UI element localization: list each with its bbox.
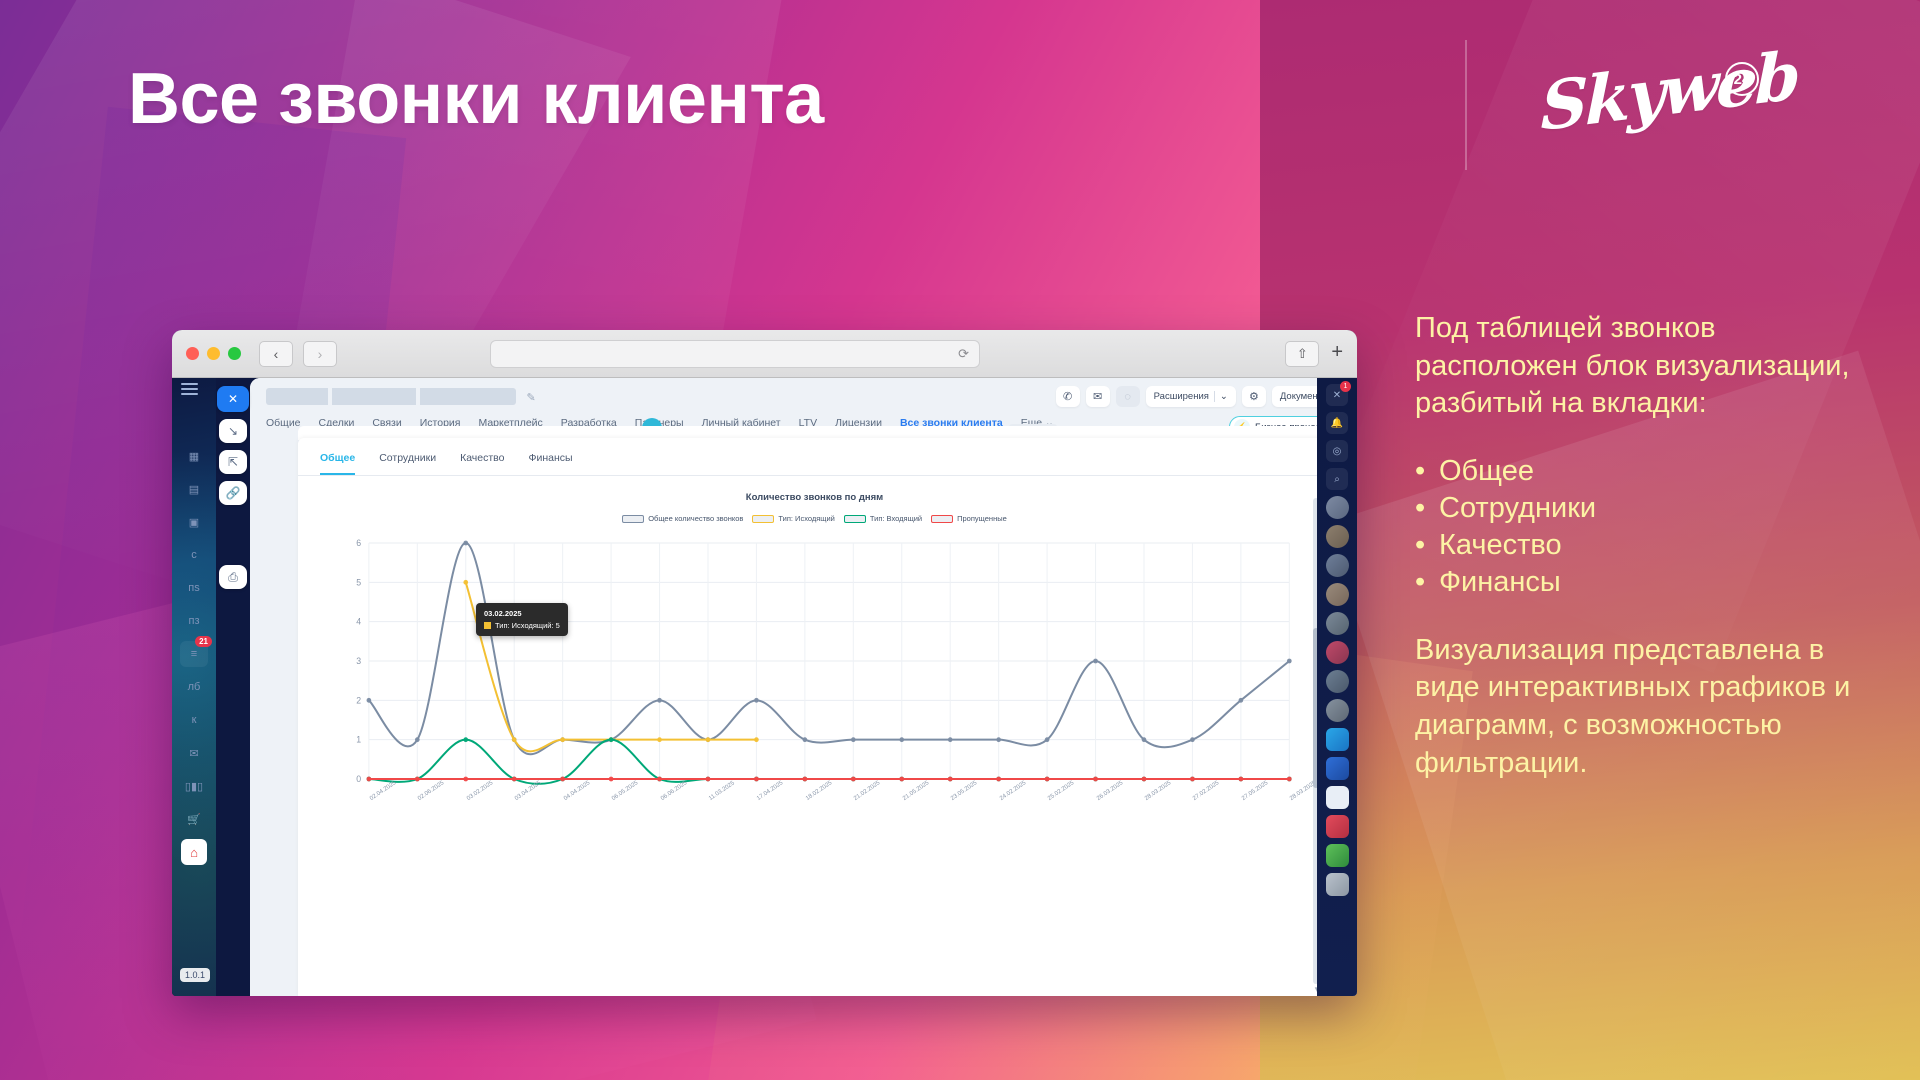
dock-item-icon[interactable]: ▤ [180,476,208,502]
legend-label: Тип: Исходящий [778,514,834,523]
avatar[interactable] [1326,525,1349,548]
page-title: Все звонки клиента [128,58,824,140]
chat-icon[interactable]: ◌ [1116,386,1140,407]
chevron-down-icon: ⌄ [1220,391,1228,402]
extensions-dropdown[interactable]: Расширения ⌄ [1146,386,1236,407]
tooltip-date: 03.02.2025 [484,608,560,620]
bullet-item: Качество [1415,527,1885,564]
app-viewport: ▦ ▤ ▣ с пs пз ≡21 лб к ✉ ▯▮▯ 🛒 ⌂ 1.0.1 ✕… [172,378,1357,996]
brand-logo: Skyweb 24 [1540,42,1800,162]
rail-app-icon[interactable] [1326,873,1349,896]
rail-app-icon[interactable] [1326,757,1349,780]
calls-per-day-line-chart[interactable]: 0123456 [328,535,1301,797]
rail-app-icon[interactable] [1326,728,1349,751]
legend-item-total[interactable]: Общее количество звонков [622,514,743,523]
description-paragraph-1: Под таблицей звонков расположен блок виз… [1415,310,1885,423]
tabs-bullet-list: Общее Сотрудники Качество Финансы [1415,453,1885,601]
logo-badge-24: 24 [1725,62,1759,96]
dock-item-icon[interactable]: пз [180,608,208,634]
notification-badge: 21 [195,636,212,647]
record-title-redacted [266,388,516,405]
description-paragraph-2: Визуализация представлена в виде интерак… [1415,632,1885,783]
logo-wordmark: Skyweb [1540,36,1798,146]
legend-item-incoming[interactable]: Тип: Входящий [844,514,922,523]
avatar[interactable] [1326,496,1349,519]
bell-icon[interactable]: 🔔 [1326,412,1348,434]
edit-icon[interactable]: ✎ [526,392,535,404]
legend-label: Тип: Входящий [870,514,922,523]
minimize-window-icon[interactable] [207,347,220,360]
rail-close-icon[interactable]: ✕1 [1326,384,1348,406]
svg-text:2: 2 [356,695,361,705]
legend-swatch [844,515,866,523]
menu-icon[interactable] [181,383,198,398]
tooltip-series-row: Тип: Исходящий: 5 [484,620,560,632]
legend-label: Пропущенные [957,514,1007,523]
svg-text:1: 1 [356,735,361,745]
dock-notifications-icon[interactable]: ≡21 [180,641,208,667]
rail-app-icon[interactable] [1326,815,1349,838]
chart-plot-area[interactable]: 0123456 03.02.2025 Тип: Исходящий: 5 [328,535,1301,797]
avatar[interactable] [1326,583,1349,606]
browser-chrome: ‹ › ⟳ ⇧ + [172,330,1357,378]
legend-item-outgoing[interactable]: Тип: Исходящий [752,514,834,523]
mail-icon[interactable]: ✉ [1086,386,1110,407]
legend-swatch [752,515,774,523]
crm-page: ✎ Общие Сделки Связи История Маркетплейс… [250,378,1357,996]
svg-text:5: 5 [356,577,361,587]
dock-item-icon[interactable]: лб [180,674,208,700]
svg-text:6: 6 [356,538,361,548]
version-label: 1.0.1 [180,968,210,982]
dock-item-icon[interactable]: ▣ [180,509,208,535]
new-tab-button[interactable]: + [1331,342,1343,365]
close-window-icon[interactable] [186,347,199,360]
tooltip-value: Тип: Исходящий: 5 [495,620,560,632]
right-rail: ✕1 🔔 ◎ ⌕ [1317,378,1357,996]
chrome-right-controls: ⇧ + [1285,341,1343,367]
visualization-tabs: Общее Сотрудники Качество Финансы [298,438,1331,476]
open-external-icon[interactable]: ⇱ [219,450,247,474]
close-panel-icon[interactable]: ✕ [217,386,249,412]
tab-sotrudniki[interactable]: Сотрудники [379,452,436,475]
call-icon[interactable]: ✆ [1056,386,1080,407]
document-label: Документ [1280,391,1322,402]
collapse-icon[interactable]: ↘ [219,419,247,443]
tab-obschie[interactable]: Общие [266,417,301,429]
svg-text:4: 4 [356,617,361,627]
print-icon[interactable]: ⎙ [219,565,247,589]
chart-tooltip: 03.02.2025 Тип: Исходящий: 5 [476,603,568,636]
maximize-window-icon[interactable] [228,347,241,360]
dock-chart-icon[interactable]: ▯▮▯ [180,773,208,799]
rail-badge: 1 [1340,381,1351,392]
chart-legend: Общее количество звонков Тип: Исходящий … [298,514,1331,523]
avatar[interactable] [1326,699,1349,722]
chart-title: Количество звонков по дням [298,492,1331,503]
dock-cart-icon[interactable]: 🛒 [180,806,208,832]
rail-app-icon[interactable] [1326,844,1349,867]
address-bar[interactable]: ⟳ [490,340,980,368]
logo-divider [1465,40,1467,170]
dock-item-icon[interactable]: пs [180,575,208,601]
legend-label: Общее количество звонков [648,514,743,523]
divider [1214,391,1215,402]
window-traffic-lights[interactable] [186,347,241,360]
copy-link-icon[interactable]: 🔗 [219,481,247,505]
avatar[interactable] [1326,554,1349,577]
avatar[interactable] [1326,641,1349,664]
tooltip-swatch [484,622,491,629]
description-panel: Под таблицей звонков расположен блок виз… [1415,310,1885,782]
dock-items: ▦ ▤ ▣ с пs пз ≡21 лб к ✉ ▯▮▯ 🛒 ⌂ [172,436,216,872]
browser-window: ‹ › ⟳ ⇧ + ▦ ▤ ▣ с пs пз ≡21 лб к ✉ ▯▮▯ [172,330,1357,996]
svg-text:0: 0 [356,774,361,784]
tab-obschee[interactable]: Общее [320,452,355,475]
bullet-item: Сотрудники [1415,490,1885,527]
share-button[interactable]: ⇧ [1285,341,1319,367]
tab-finansy[interactable]: Финансы [528,452,572,475]
gear-icon[interactable]: ⚙ [1242,386,1266,407]
legend-swatch [931,515,953,523]
dock-mail-icon[interactable]: ✉ [180,740,208,766]
dock-item-icon[interactable]: с [180,542,208,568]
back-button[interactable]: ‹ [259,341,293,367]
extensions-label: Расширения [1154,391,1209,402]
visualization-card: Общее Сотрудники Качество Финансы Количе… [298,438,1331,996]
search-icon[interactable]: ⌕ [1326,468,1348,490]
bullet-item: Общее [1415,453,1885,490]
legend-swatch [622,515,644,523]
dock-item-icon[interactable]: к [180,707,208,733]
rail-app-icon[interactable] [1326,786,1349,809]
avatar[interactable] [1326,612,1349,635]
tab-kachestvo[interactable]: Качество [460,452,504,475]
record-toolbar: ✆ ✉ ◌ Расширения ⌄ ⚙ Документ ⌄ [1056,386,1343,407]
avatar[interactable] [1326,670,1349,693]
legend-item-missed[interactable]: Пропущенные [931,514,1007,523]
os-dock: ▦ ▤ ▣ с пs пз ≡21 лб к ✉ ▯▮▯ 🛒 ⌂ 1.0.1 [172,378,216,996]
side-tool-strip: ✕ ↘ ⇱ 🔗 ⎙ [216,378,250,589]
dock-item-icon[interactable]: ▦ [180,443,208,469]
forward-button[interactable]: › [303,341,337,367]
chart-x-axis-labels: 02.04.202502.06.202503.02.202503.04.2025… [328,797,1301,837]
reload-icon[interactable]: ⟳ [958,346,969,362]
svg-text:3: 3 [356,656,361,666]
rail-widget-icon[interactable]: ◎ [1326,440,1348,462]
dock-home-icon[interactable]: ⌂ [181,839,207,865]
bullet-item: Финансы [1415,564,1885,601]
